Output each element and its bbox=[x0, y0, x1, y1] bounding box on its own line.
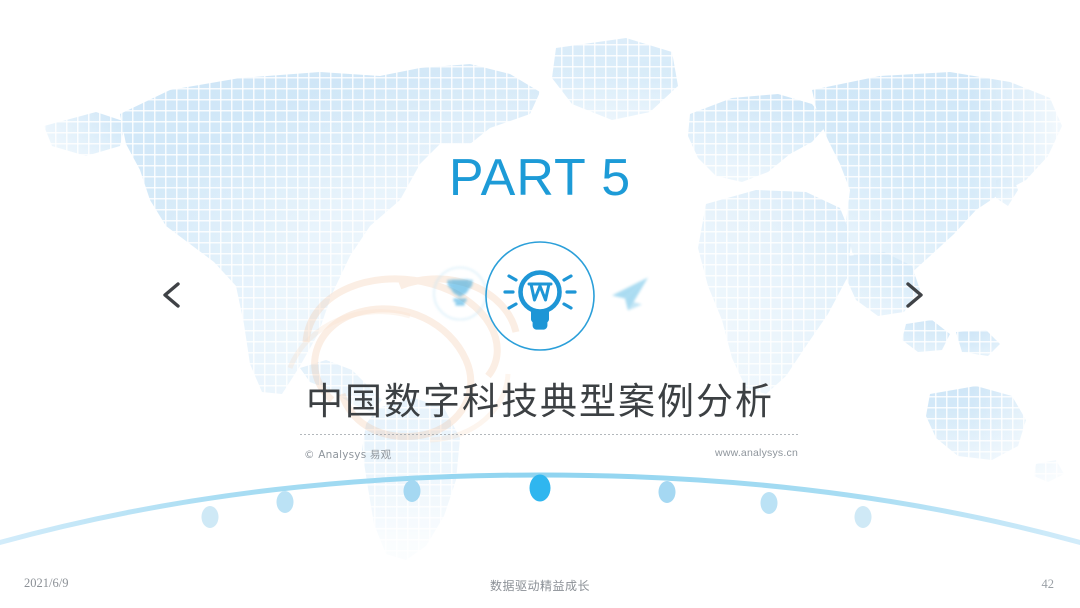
dotted-divider bbox=[300, 434, 800, 435]
lightbulb-icon bbox=[484, 240, 596, 352]
progress-dot-5[interactable] bbox=[659, 481, 676, 503]
progress-dot-4[interactable] bbox=[530, 475, 551, 502]
progress-dot-7[interactable] bbox=[855, 506, 872, 528]
progress-dot-1[interactable] bbox=[202, 506, 219, 528]
trophy-icon bbox=[432, 266, 488, 327]
section-heading: 中国数字科技典型案例分析 bbox=[0, 371, 1080, 425]
progress-dot-6[interactable] bbox=[761, 492, 778, 514]
footer-page-number: 42 bbox=[1042, 577, 1055, 592]
brand-footer-block: © Analysys 易观 www.analysys.cn bbox=[300, 434, 800, 461]
chevron-left-icon bbox=[155, 277, 191, 313]
paper-plane-icon bbox=[604, 268, 656, 325]
copyright-text: © Analysys 易观 bbox=[304, 447, 391, 462]
slide-canvas: PART 5 bbox=[0, 0, 1080, 608]
progress-arc bbox=[0, 455, 1080, 560]
slide-footer: 2021/6/9 数据驱动精益成长 42 bbox=[0, 564, 1080, 608]
arc-curve bbox=[0, 455, 1080, 560]
footer-tagline: 数据驱动精益成长 bbox=[0, 577, 1080, 594]
page-title: PART 5 bbox=[0, 148, 1080, 208]
prev-slide-button[interactable] bbox=[146, 268, 200, 322]
next-slide-button[interactable] bbox=[886, 268, 940, 322]
website-link[interactable]: www.analysys.cn bbox=[715, 447, 798, 459]
progress-dot-2[interactable] bbox=[277, 491, 294, 513]
chevron-right-icon bbox=[895, 277, 931, 313]
progress-dot-3[interactable] bbox=[404, 480, 421, 502]
